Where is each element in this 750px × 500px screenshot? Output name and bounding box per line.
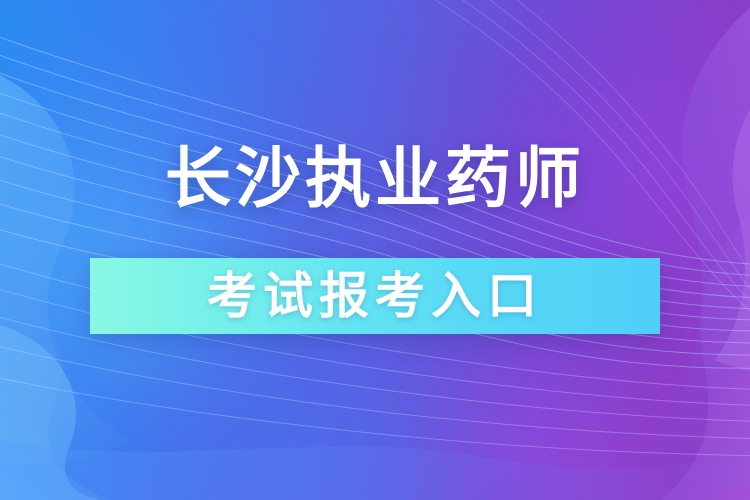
page-title: 长沙执业药师 xyxy=(0,146,750,212)
subtitle-text: 考试报考入口 xyxy=(207,271,543,321)
subtitle-ribbon: 考试报考入口 xyxy=(90,258,660,334)
title-block: 长沙执业药师 xyxy=(0,146,750,212)
wave-lines xyxy=(0,0,750,500)
promo-banner: 长沙执业药师 考试报考入口 xyxy=(0,0,750,500)
